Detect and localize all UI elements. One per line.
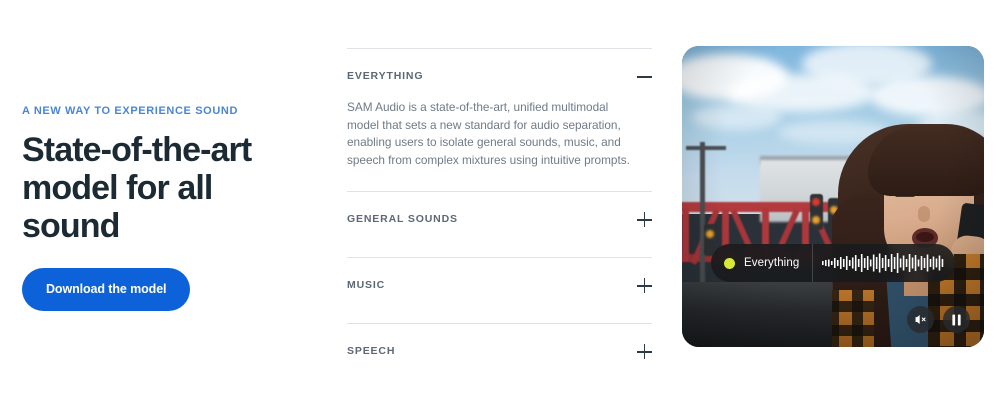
- feature-accordion: EVERYTHING SAM Audio is a state-of-the-a…: [347, 48, 652, 389]
- minus-icon: [637, 69, 652, 84]
- demo-video-card[interactable]: Everything: [682, 46, 984, 347]
- download-model-button[interactable]: Download the model: [22, 268, 190, 311]
- video-controls: [907, 306, 970, 333]
- plus-icon: [637, 278, 652, 293]
- pill-label: Everything: [744, 257, 799, 269]
- audio-waveform: [813, 244, 955, 282]
- accordion-header-speech[interactable]: SPEECH: [347, 324, 652, 365]
- accordion-item-music: MUSIC: [347, 257, 652, 323]
- accordion-spacer: [347, 365, 652, 389]
- accordion-header-music[interactable]: MUSIC: [347, 258, 652, 299]
- accordion-spacer: [347, 233, 652, 257]
- accordion-item-everything: EVERYTHING SAM Audio is a state-of-the-a…: [347, 48, 652, 191]
- hero-eyebrow: A NEW WAY TO EXPERIENCE SOUND: [22, 104, 322, 118]
- accordion-item-speech: SPEECH: [347, 323, 652, 389]
- plus-icon: [637, 212, 652, 227]
- accordion-spacer: [347, 299, 652, 323]
- plus-icon: [637, 344, 652, 359]
- accordion-header-general-sounds[interactable]: GENERAL SOUNDS: [347, 192, 652, 233]
- status-dot-icon: [724, 258, 735, 269]
- accordion-label-speech: SPEECH: [347, 345, 395, 358]
- video-frame-image: [682, 46, 984, 347]
- mute-button[interactable]: [907, 306, 934, 333]
- pause-button[interactable]: [943, 306, 970, 333]
- accordion-body-everything: SAM Audio is a state-of-the-art, unified…: [347, 90, 643, 191]
- accordion-header-everything[interactable]: EVERYTHING: [347, 49, 652, 90]
- pill-label-group: Everything: [711, 244, 813, 282]
- accordion-label-music: MUSIC: [347, 279, 385, 292]
- page-title: State-of-the-art model for all sound: [22, 131, 262, 245]
- landing-page-section: A NEW WAY TO EXPERIENCE SOUND State-of-t…: [0, 0, 1000, 403]
- hero-block: A NEW WAY TO EXPERIENCE SOUND State-of-t…: [22, 104, 322, 311]
- accordion-item-general-sounds: GENERAL SOUNDS: [347, 191, 652, 257]
- audio-source-pill[interactable]: Everything: [711, 244, 955, 282]
- accordion-label-everything: EVERYTHING: [347, 70, 423, 83]
- accordion-label-general-sounds: GENERAL SOUNDS: [347, 213, 458, 226]
